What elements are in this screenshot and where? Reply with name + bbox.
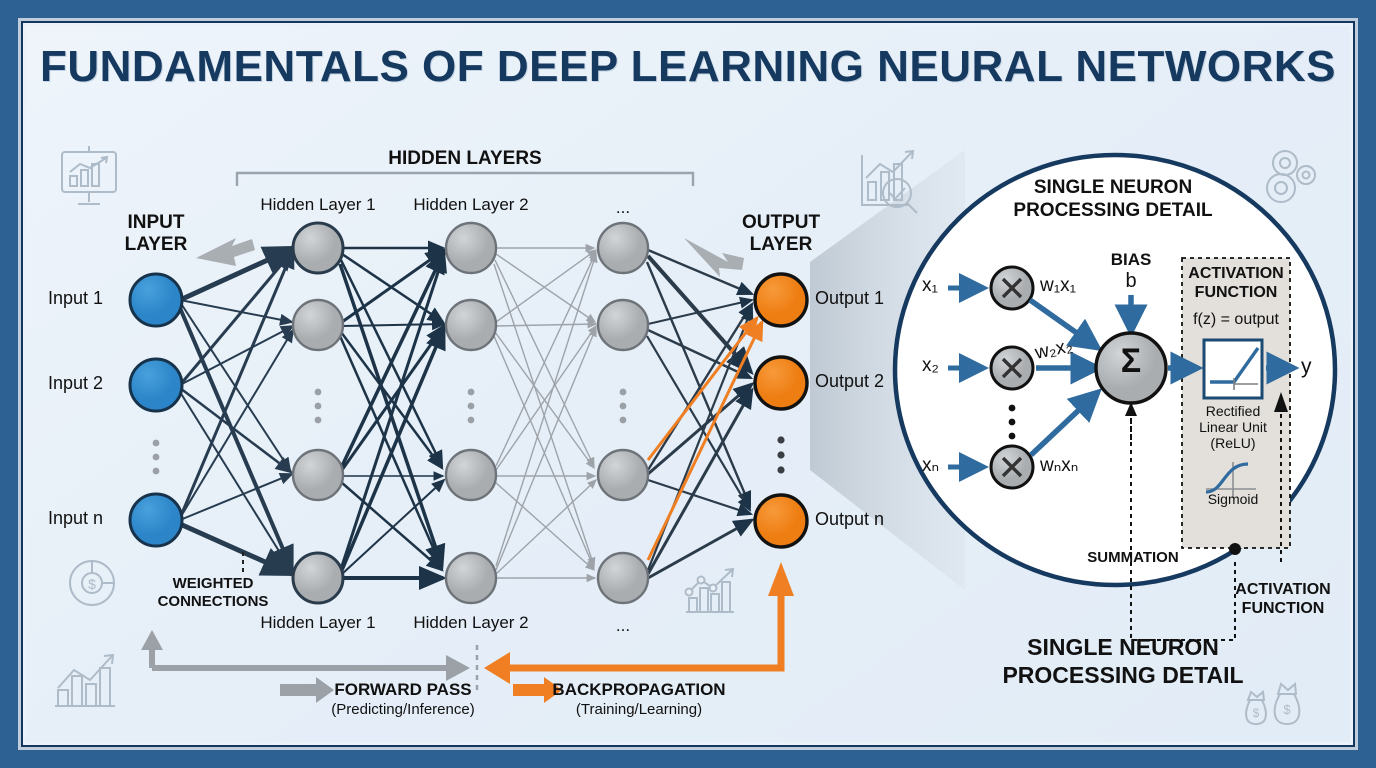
- legend-forward-arrow: [280, 677, 334, 703]
- hidden-layer-more-label-bottom: ...: [616, 616, 630, 636]
- infographic-root: FUNDAMENTALS OF DEEP LEARNING NEURAL NET…: [0, 0, 1376, 768]
- bias-label: BIAS: [1111, 250, 1152, 270]
- presentation-chart-icon: [62, 146, 116, 204]
- gears-icon: [1267, 151, 1315, 202]
- bar-growth-icon: [55, 655, 115, 706]
- hidden-layer-1-nodes: [293, 223, 343, 603]
- relu-label: Rectified Linear Unit (ReLU): [1199, 403, 1267, 451]
- forward-track-arrowhead-up: [141, 630, 163, 650]
- hidden-layer-1-label-top: Hidden Layer 1: [260, 195, 375, 215]
- weighted-connections-label: WEIGHTED CONNECTIONS: [158, 575, 269, 611]
- output-label-n: Output n: [815, 509, 884, 530]
- edges-input-hidden1: [180, 248, 294, 574]
- hidden-layers-title: HIDDEN LAYERS: [388, 148, 541, 170]
- bias-symbol: b: [1125, 270, 1136, 293]
- sigmoid-label: Sigmoid: [1208, 491, 1259, 507]
- svg-text:$: $: [1283, 702, 1291, 717]
- hidden-layer-3-nodes: [598, 223, 648, 603]
- summation-symbol: Σ: [1121, 344, 1141, 378]
- legend-forward-subtitle: (Predicting/Inference): [331, 701, 474, 718]
- detail-input-x1: x₁: [922, 275, 938, 297]
- summation-callout: SUMMATION: [1087, 549, 1178, 566]
- legend-backprop-subtitle: (Training/Learning): [576, 701, 702, 718]
- detail-weight-1: w₁x₁: [1040, 275, 1076, 297]
- input-label-n: Input n: [48, 508, 103, 529]
- money-bags-icon: $ $: [1246, 684, 1299, 724]
- activation-function-label: ACTIVATION FUNCTION: [1188, 264, 1283, 302]
- input-nodes: [130, 274, 182, 546]
- hidden-layer-2-label-bottom: Hidden Layer 2: [413, 613, 528, 633]
- hidden-layer-more-label-top: ...: [616, 198, 630, 218]
- activation-function-callout: ACTIVATION FUNCTION: [1235, 580, 1330, 618]
- svg-text:$: $: [1253, 706, 1260, 720]
- edges-hidden1-hidden2: [340, 248, 444, 578]
- legend-backprop-title: BACKPROPAGATION: [552, 680, 725, 700]
- chart-magnifier-icon: [862, 151, 917, 213]
- forward-track-arrowhead-right: [446, 655, 470, 681]
- hidden-layer-2-nodes: [446, 223, 496, 603]
- multiply-nodes: [991, 267, 1033, 488]
- activation-leader-dot: [1229, 543, 1241, 555]
- backprop-arrowhead-up: [768, 562, 794, 596]
- forward-arrow-left: [196, 238, 255, 266]
- fz-text: f(z) = output: [1193, 311, 1279, 329]
- edges-hidden2-hidden3: [494, 248, 596, 578]
- svg-text:$: $: [88, 576, 96, 592]
- detail-input-xn: xₙ: [922, 454, 939, 477]
- relu-box: [1204, 340, 1262, 398]
- detail-weight-n: wₙxₙ: [1040, 454, 1078, 477]
- backprop-arrowhead-left: [484, 652, 510, 684]
- hidden-layer-2-label-top: Hidden Layer 2: [413, 195, 528, 215]
- detail-caption: SINGLE NEURON PROCESSING DETAIL: [1002, 633, 1243, 689]
- input-label-1: Input 1: [48, 288, 103, 309]
- scatter-bar-icon: [686, 569, 735, 612]
- forward-arrow-right: [684, 238, 744, 277]
- input-label-2: Input 2: [48, 373, 103, 394]
- hidden-layer-1-label-bottom: Hidden Layer 1: [260, 613, 375, 633]
- detail-input-x2: x₂: [922, 355, 939, 377]
- output-nodes: [755, 274, 807, 547]
- hidden-layers-bracket: [237, 173, 693, 186]
- output-label-1: Output 1: [815, 288, 884, 309]
- output-label-2: Output 2: [815, 371, 884, 392]
- input-layer-label: INPUT LAYER: [125, 212, 188, 256]
- dollar-donut-icon: $: [70, 561, 114, 605]
- legend-forward-title: FORWARD PASS: [334, 680, 471, 700]
- output-layer-label: OUTPUT LAYER: [742, 212, 820, 256]
- detail-heading: SINGLE NEURON PROCESSING DETAIL: [1013, 176, 1212, 222]
- detail-output-y: y: [1301, 355, 1312, 379]
